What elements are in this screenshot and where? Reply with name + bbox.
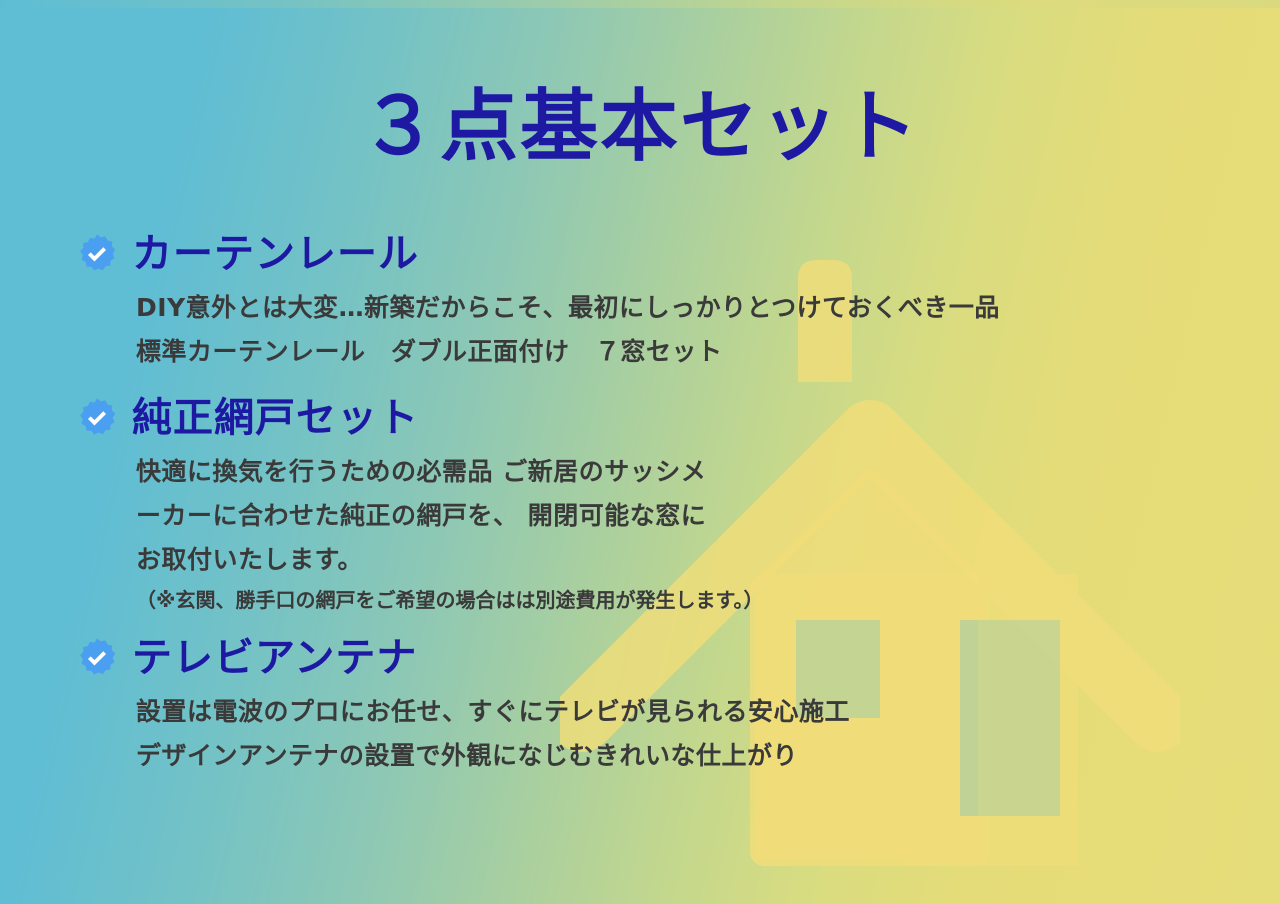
poster-content: ３点基本セット カーテンレール DIY意外とは大変…新築だからこそ、最初にしっか… [0,0,1280,904]
section-body: DIY意外とは大変…新築だからこそ、最初にしっかりとつけておくべき一品 標準カー… [136,286,1256,374]
section-body-line: 設置は電波のプロにお任せ、すぐにテレビが見られる安心施工 [136,690,1256,734]
poster-canvas: ３点基本セット カーテンレール DIY意外とは大変…新築だからこそ、最初にしっか… [0,0,1280,904]
section-header: テレビアンテナ [76,632,1256,684]
section-note: （※玄関、勝手口の網戸をご希望の場合はは別途費用が発生します。） [136,582,1256,618]
check-badge-icon [76,397,118,439]
page-title: ３点基本セット [0,88,1280,166]
section-body-line: 標準カーテンレール ダブル正面付け ７窓セット [136,330,1256,374]
section-header: カーテンレール [76,228,1256,280]
section-body-line: デザインアンテナの設置で外観になじむきれいな仕上がり [136,734,1256,778]
section-body-line: 快適に換気を行うための必需品 ご新居のサッシメ [136,450,1256,494]
section-body: 快適に換気を行うための必需品 ご新居のサッシメ ーカーに合わせた純正の網戸を、 … [136,450,1256,618]
section-header: 純正網戸セット [76,392,1256,444]
feature-section-curtain-rail: カーテンレール DIY意外とは大変…新築だからこそ、最初にしっかりとつけておくべ… [76,228,1256,374]
section-body-line: DIY意外とは大変…新築だからこそ、最初にしっかりとつけておくべき一品 [136,286,1256,330]
feature-section-screen-door: 純正網戸セット 快適に換気を行うための必需品 ご新居のサッシメ ーカーに合わせた… [76,392,1256,618]
section-body-line: お取付いたします。 [136,538,1256,582]
section-title: テレビアンテナ [132,638,417,678]
section-body-line: ーカーに合わせた純正の網戸を、 開閉可能な窓に [136,494,1256,538]
section-body: 設置は電波のプロにお任せ、すぐにテレビが見られる安心施工 デザインアンテナの設置… [136,690,1256,778]
section-title: 純正網戸セット [132,398,419,438]
check-badge-icon [76,637,118,679]
check-badge-icon [76,233,118,275]
feature-section-tv-antenna: テレビアンテナ 設置は電波のプロにお任せ、すぐにテレビが見られる安心施工 デザイ… [76,632,1256,778]
section-title: カーテンレール [132,234,419,274]
